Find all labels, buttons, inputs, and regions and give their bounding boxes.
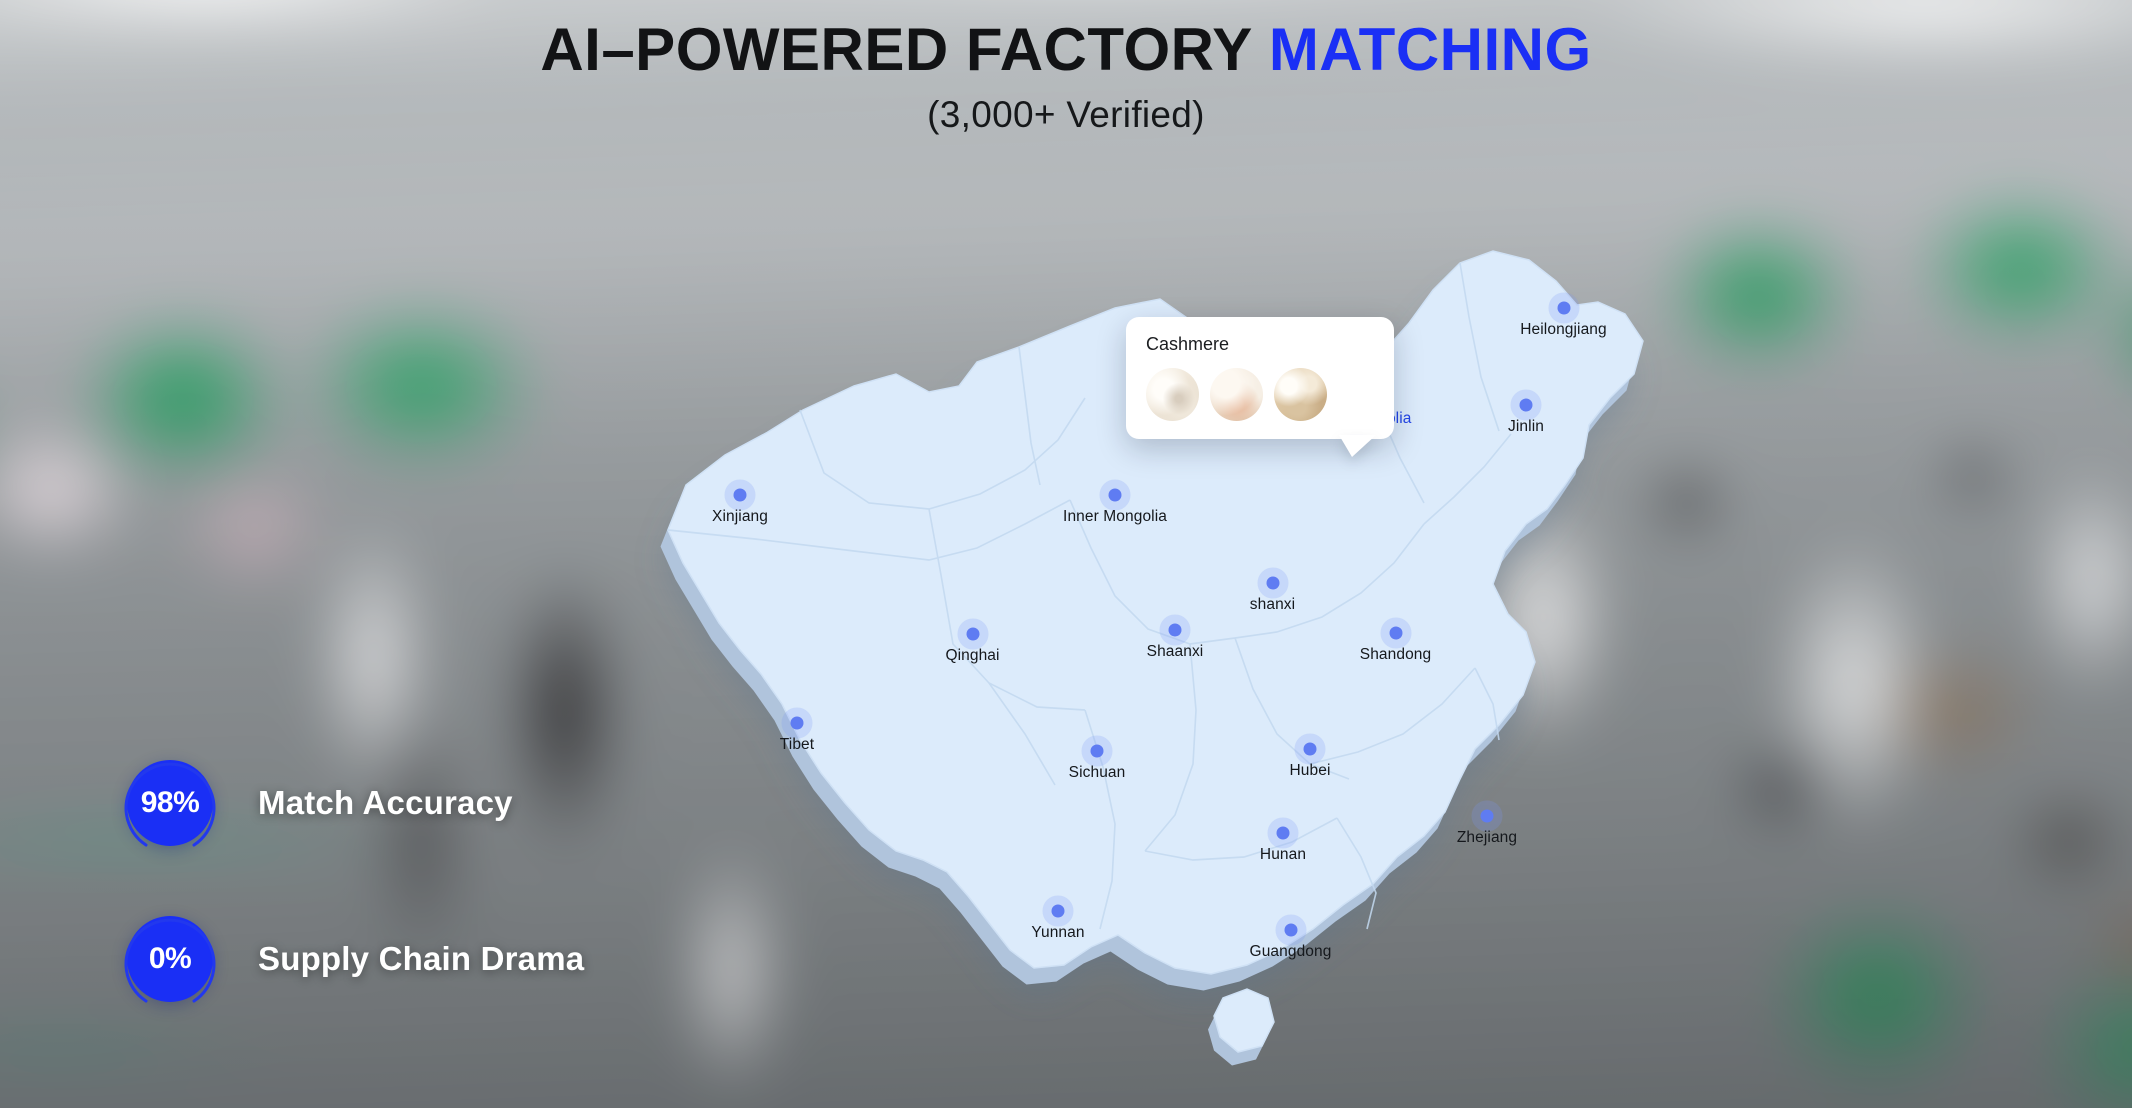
map-marker-label-hubei: Hubei <box>1290 762 1331 780</box>
cashmere-tooltip[interactable]: Cashmere <box>1126 317 1394 439</box>
page-title: AI–POWERED FACTORY MATCHING <box>0 18 2132 82</box>
page-subtitle: (3,000+ Verified) <box>0 94 2132 136</box>
map-marker-dot-qinghai[interactable] <box>966 628 979 641</box>
stat-row-supply-chain-drama: 0% Supply Chain Drama <box>116 905 584 1013</box>
cashmere-goats-herd-image[interactable] <box>1274 368 1327 421</box>
map-marker-dot-sichuan[interactable] <box>1091 744 1104 757</box>
map-marker-label-shandong: Shandong <box>1360 646 1431 664</box>
map-marker-label-yunnan: Yunnan <box>1031 924 1084 942</box>
map-marker-dot-jinlin[interactable] <box>1520 398 1533 411</box>
map-marker-dot-shaanxi[interactable] <box>1169 623 1182 636</box>
map-marker-dot-inner-mongolia[interactable] <box>1109 488 1122 501</box>
map-marker-dot-guangdong[interactable] <box>1284 923 1297 936</box>
match-accuracy-gauge: 98% <box>116 749 224 857</box>
map-marker-dot-yunnan[interactable] <box>1052 905 1065 918</box>
cashmere-fiber-roving-image[interactable] <box>1146 368 1199 421</box>
page-title-accent: MATCHING <box>1269 16 1592 83</box>
page-title-plain: AI–POWERED FACTORY <box>540 16 1269 83</box>
tooltip-pointer-tail <box>1339 435 1376 457</box>
map-marker-label-tibet: Tibet <box>780 736 814 754</box>
map-marker-dot-hubei[interactable] <box>1304 743 1317 756</box>
map-marker-dot-tibet[interactable] <box>791 717 804 730</box>
map-marker-dot-xinjiang[interactable] <box>734 488 747 501</box>
map-marker-dot-hunan[interactable] <box>1277 827 1290 840</box>
map-marker-dot-heilongjiang[interactable] <box>1557 302 1570 315</box>
hands-on-cashmere-fabric-image[interactable] <box>1210 368 1263 421</box>
map-marker-label-shaanxi: Shaanxi <box>1147 643 1204 661</box>
supply-chain-drama-gauge: 0% <box>116 905 224 1013</box>
map-marker-dot-shanxi[interactable] <box>1266 577 1279 590</box>
stat-row-match-accuracy: 98% Match Accuracy <box>116 749 584 857</box>
map-marker-label-guangdong: Guangdong <box>1250 943 1332 961</box>
map-marker-label-zhejiang: Zhejiang <box>1457 829 1517 847</box>
tooltip-card: Cashmere <box>1126 317 1394 439</box>
match-accuracy-label: Match Accuracy <box>258 784 513 822</box>
map-marker-label-sichuan: Sichuan <box>1069 764 1126 782</box>
header: AI–POWERED FACTORY MATCHING (3,000+ Veri… <box>0 0 2132 136</box>
map-marker-label-inner-mongolia: Inner Mongolia <box>1063 508 1167 526</box>
hainan-island <box>1208 989 1274 1066</box>
map-marker-dot-shandong[interactable] <box>1389 626 1402 639</box>
map-marker-label-jinlin: Jinlin <box>1508 418 1544 436</box>
map-marker-label-hunan: Hunan <box>1260 846 1306 864</box>
stat-badges: 98% Match Accuracy 0% Supply Chain Drama <box>116 749 584 1013</box>
map-marker-dot-zhejiang[interactable] <box>1481 810 1494 823</box>
supply-chain-drama-label: Supply Chain Drama <box>258 940 584 978</box>
tooltip-image-row <box>1146 368 1374 421</box>
map-marker-label-qinghai: Qinghai <box>945 647 999 665</box>
map-marker-label-xinjiang: Xinjiang <box>712 508 768 526</box>
progress-arc-icon <box>116 749 224 857</box>
map-marker-label-heilongjiang: Heilongjiang <box>1520 321 1607 339</box>
progress-arc-icon <box>116 905 224 1013</box>
tooltip-title: Cashmere <box>1146 334 1374 355</box>
map-marker-label-shanxi: shanxi <box>1250 596 1295 614</box>
